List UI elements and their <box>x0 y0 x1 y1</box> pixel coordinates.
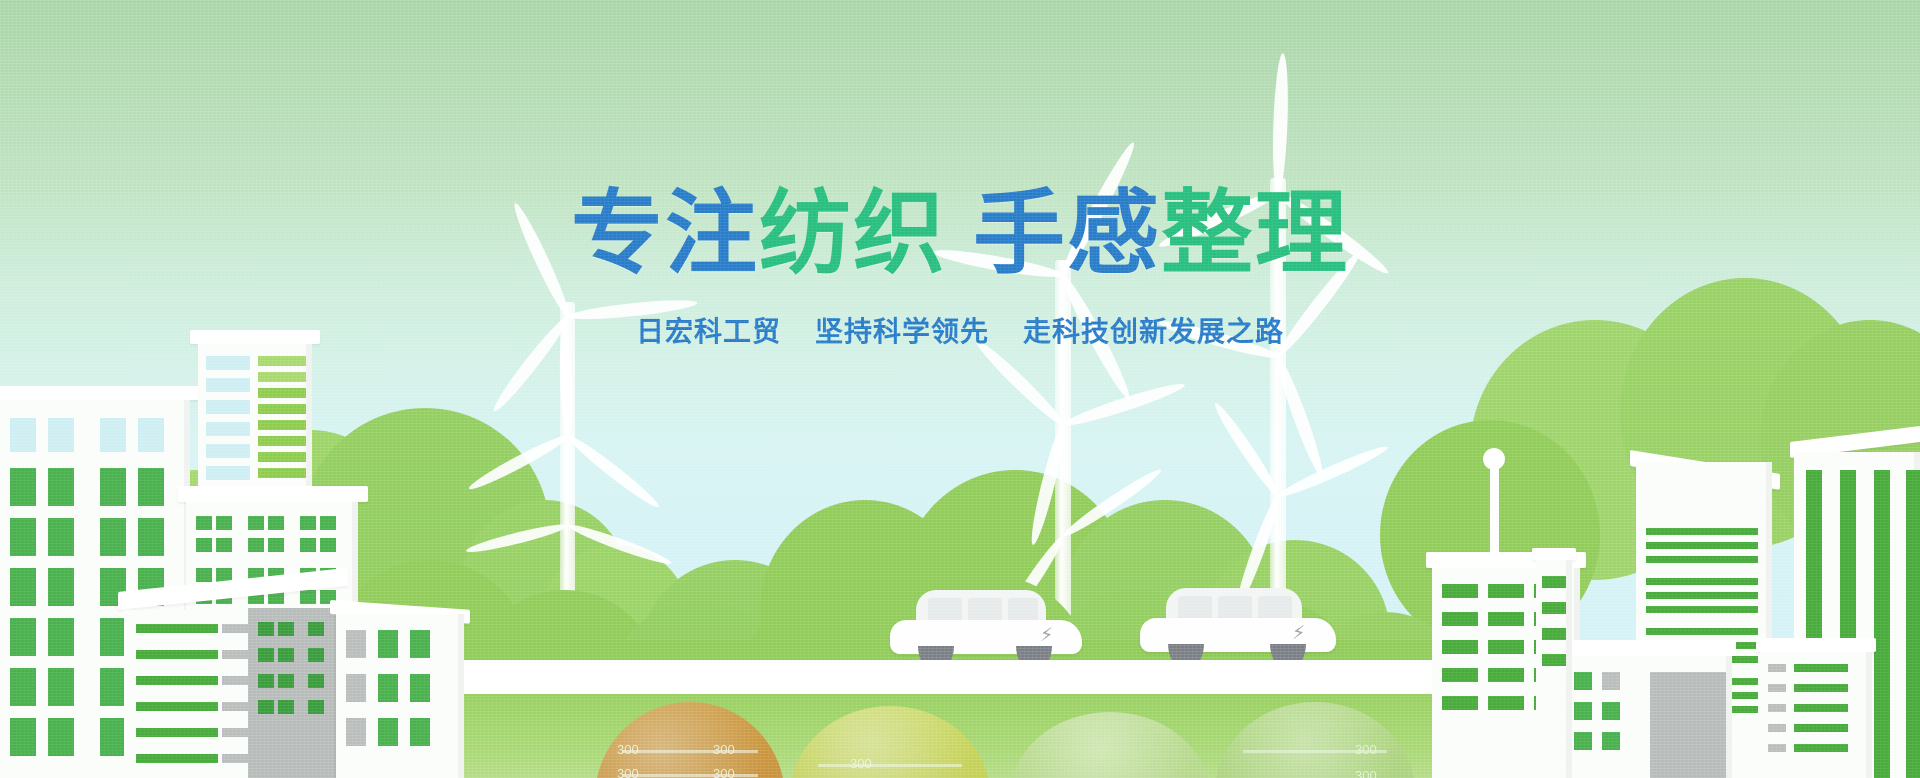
window-band <box>1442 640 1478 654</box>
window-band <box>1768 664 1786 672</box>
window-band <box>1646 542 1758 549</box>
window-band <box>1794 704 1848 712</box>
window-band <box>1906 470 1920 778</box>
window-band <box>1794 684 1848 692</box>
window-band <box>1768 724 1786 732</box>
window <box>1602 702 1620 720</box>
window-band <box>1646 606 1758 613</box>
window-band <box>1442 668 1478 682</box>
window <box>1602 732 1620 750</box>
subtitle-part-3: 走科技创新发展之路 <box>1023 316 1284 347</box>
window-band <box>1488 584 1524 598</box>
headline-segment-3: 手感 <box>973 183 1161 285</box>
window-band <box>1442 584 1478 598</box>
window-band <box>1768 744 1786 752</box>
window-band <box>1794 724 1848 732</box>
window-band <box>1874 470 1890 778</box>
window-band <box>1768 684 1786 692</box>
headline-segment-2: 纺织 <box>759 183 947 285</box>
window-band <box>1768 704 1786 712</box>
subtitle-part-2: 坚持科学领先 <box>815 316 989 347</box>
window-band <box>1488 640 1524 654</box>
window-band <box>1646 628 1758 635</box>
window-band <box>1488 696 1524 710</box>
cityscape-right <box>0 0 1920 778</box>
page-title: 专注纺织手感整理 <box>0 186 1920 284</box>
window <box>1574 702 1592 720</box>
headline-segment-4: 整理 <box>1161 183 1349 285</box>
window <box>1574 672 1592 690</box>
window-band <box>1646 592 1758 599</box>
window <box>1574 732 1592 750</box>
window-band <box>1794 744 1848 752</box>
window-band <box>1646 528 1758 535</box>
window <box>1602 672 1620 690</box>
headline-segment-1: 专注 <box>571 183 759 285</box>
window-band <box>1442 612 1478 626</box>
hero-text-block: 专注纺织手感整理 日宏科工贸坚持科学领先走科技创新发展之路 <box>0 186 1920 350</box>
window-band <box>1542 576 1566 588</box>
building-roof-cap <box>1556 640 1736 656</box>
window-band <box>1442 696 1478 710</box>
page-subtitle: 日宏科工贸坚持科学领先走科技创新发展之路 <box>0 310 1920 350</box>
window-band <box>1646 556 1758 563</box>
hero-banner: 专注纺织手感整理 日宏科工贸坚持科学领先走科技创新发展之路 ⚡ <box>0 0 1920 778</box>
window-band <box>1794 664 1848 672</box>
building-roof-cap <box>1756 638 1876 652</box>
building-roof-cap <box>1532 548 1576 560</box>
building-body-shadow <box>1650 672 1726 778</box>
window-band <box>1488 668 1524 682</box>
window-band <box>1488 612 1524 626</box>
subtitle-part-1: 日宏科工贸 <box>636 316 781 347</box>
building-body <box>1536 560 1572 778</box>
window-band <box>1542 628 1566 640</box>
window-band <box>1542 654 1566 666</box>
window-band <box>1646 578 1758 585</box>
antenna-pole <box>1490 462 1499 558</box>
window-band <box>1542 602 1566 614</box>
